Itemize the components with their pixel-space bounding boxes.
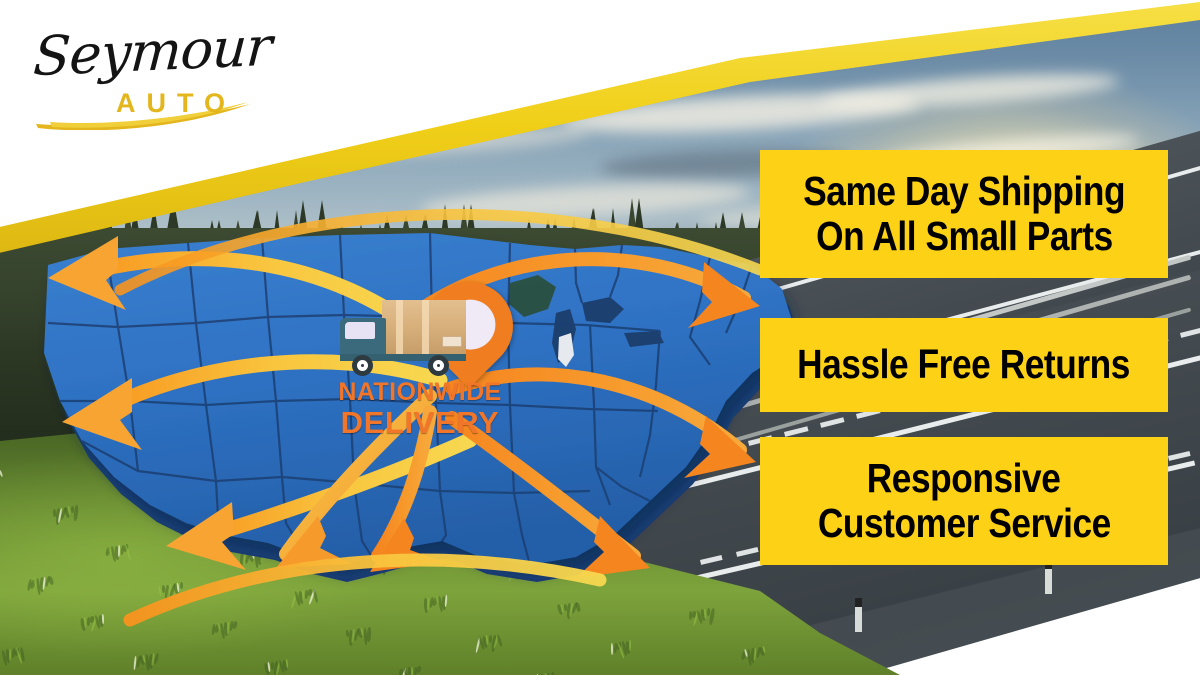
truck-window: [345, 322, 375, 339]
grass-blade: [411, 667, 413, 675]
cargo-label: [442, 336, 462, 347]
promo-banner: NATIONWIDE DELIVERY Seymour AUTO Same Da…: [0, 0, 1200, 675]
panel2-line1: Hassle Free Returns: [798, 343, 1131, 386]
cargo-strap: [396, 300, 403, 356]
nationwide-delivery-badge: NATIONWIDE DELIVERY: [330, 280, 510, 450]
panel1-line2: On All Small Parts: [816, 214, 1113, 259]
seymour-auto-logo[interactable]: Seymour AUTO: [28, 18, 258, 128]
road-delineator-post: [1045, 560, 1052, 594]
delivery-truck-icon: [340, 300, 470, 380]
truck-wheel: [428, 355, 449, 376]
truck-cargo-box: [382, 300, 466, 356]
badge-caption: NATIONWIDE DELIVERY: [330, 380, 510, 440]
feature-panel-same-day-shipping[interactable]: Same Day Shipping On All Small Parts: [760, 150, 1168, 278]
panel3-line1: Responsive: [867, 456, 1061, 501]
feature-panel-hassle-free-returns[interactable]: Hassle Free Returns: [760, 318, 1168, 412]
logo-auto-text: AUTO: [116, 88, 236, 119]
logo-script-text: Seymour: [32, 15, 273, 88]
panel3-line2: Customer Service: [818, 501, 1111, 546]
truck-wheel: [352, 355, 373, 376]
badge-line-nationwide: NATIONWIDE: [330, 380, 510, 405]
badge-line-delivery: DELIVERY: [330, 407, 510, 440]
truck-cab: [340, 318, 386, 356]
panel1-line1: Same Day Shipping: [803, 169, 1125, 214]
road-delineator-post: [855, 598, 862, 632]
feature-panel-responsive-customer-service[interactable]: Responsive Customer Service: [760, 437, 1168, 565]
cargo-strap: [422, 300, 429, 356]
